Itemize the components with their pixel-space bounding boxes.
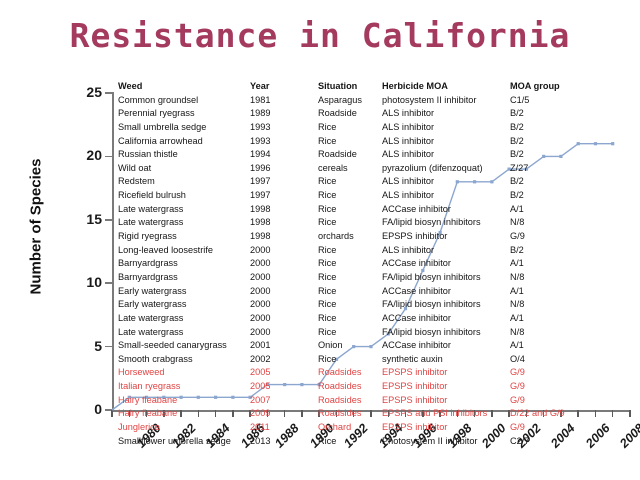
table-row: Smallflower umbrella sedge2013RicePhotos… <box>118 435 634 449</box>
cell-situation: Roadsides <box>318 394 382 408</box>
cell-weed: California arrowhead <box>118 135 250 149</box>
cell-situation: Orchard <box>318 421 382 435</box>
table-row: Common groundsel1981Asparagusphotosystem… <box>118 94 634 108</box>
cell-situation: orchards <box>318 230 382 244</box>
table-row: Small-seeded canarygrass2001OnionACCase … <box>118 339 634 353</box>
cell-year: 1998 <box>250 203 318 217</box>
cell-moa: EPSPS and PSI inhibitors <box>382 407 510 421</box>
cell-weed: Hairy fleabane <box>118 407 250 421</box>
cell-group: C2/7 <box>510 435 620 449</box>
cell-weed: Common groundsel <box>118 94 250 108</box>
table-row: Horseweed2005RoadsidesEPSPS inhibitorG/9 <box>118 366 634 380</box>
cell-group: B/2 <box>510 175 620 189</box>
cell-weed: Long-leaved loosestrife <box>118 244 250 258</box>
cell-group: Z/27 <box>510 162 620 176</box>
cell-group: N/8 <box>510 298 620 312</box>
y-axis-tick <box>105 346 113 348</box>
cell-year: 2000 <box>250 285 318 299</box>
y-axis-tick <box>105 219 113 221</box>
cell-group: B/2 <box>510 135 620 149</box>
cell-weed: Hairy fleabane <box>118 394 250 408</box>
cell-situation: Rice <box>318 244 382 258</box>
cell-situation: Rice <box>318 189 382 203</box>
cell-group: B/2 <box>510 189 620 203</box>
table-row: Rigid ryegrass1998orchardsEPSPS inhibito… <box>118 230 634 244</box>
cell-group: B/2 <box>510 107 620 121</box>
cell-group: G/9 <box>510 230 620 244</box>
cell-situation: Rice <box>318 435 382 449</box>
cell-moa: pyrazolium (difenzoquat) <box>382 162 510 176</box>
cell-year: 2009 <box>250 407 318 421</box>
cell-group: A/1 <box>510 257 620 271</box>
table-row: Early watergrass2000RiceACCase inhibitor… <box>118 285 634 299</box>
cell-moa: ALS inhibitor <box>382 148 510 162</box>
y-axis-tick-label: 15 <box>74 214 102 224</box>
cell-year: 1997 <box>250 175 318 189</box>
table-row: Small umbrella sedge1993RiceALS inhibito… <box>118 121 634 135</box>
table-row: Perennial ryegrass1989RoadsideALS inhibi… <box>118 107 634 121</box>
cell-weed: Small-seeded canarygrass <box>118 339 250 353</box>
cell-group: A/1 <box>510 312 620 326</box>
slide: Resistance in California Number of Speci… <box>0 0 640 480</box>
cell-situation: Rice <box>318 203 382 217</box>
cell-weed: Late watergrass <box>118 326 250 340</box>
cell-year: 2011 <box>250 421 318 435</box>
cell-group: O/4 <box>510 353 620 367</box>
cell-situation: Rice <box>318 121 382 135</box>
cell-situation: Asparagus <box>318 94 382 108</box>
cell-year: 1994 <box>250 148 318 162</box>
cell-weed: Russian thistle <box>118 148 250 162</box>
cell-situation: Rice <box>318 257 382 271</box>
cell-moa: FA/lipid biosyn inhibitors <box>382 216 510 230</box>
column-header-moa: Herbicide MOA <box>382 80 510 94</box>
cell-situation: Roadside <box>318 107 382 121</box>
cell-weed: Rigid ryegrass <box>118 230 250 244</box>
cell-situation: Rice <box>318 285 382 299</box>
column-header-year: Year <box>250 80 318 94</box>
cell-group: G/9 <box>510 380 620 394</box>
cell-weed: Perennial ryegrass <box>118 107 250 121</box>
table-row: California arrowhead1993RiceALS inhibito… <box>118 135 634 149</box>
cell-weed: Redstem <box>118 175 250 189</box>
y-axis-tick-label: 25 <box>74 87 102 97</box>
table-row: Junglerice2011OrchardEPSPS inhibitorG/9 <box>118 421 634 435</box>
cell-year: 1997 <box>250 189 318 203</box>
table-row: Hairy fleabane2007RoadsidesEPSPS inhibit… <box>118 394 634 408</box>
cell-year: 1996 <box>250 162 318 176</box>
cell-weed: Barnyardgrass <box>118 257 250 271</box>
table-row: Late watergrass2000RiceACCase inhibitorA… <box>118 312 634 326</box>
cell-situation: Rice <box>318 135 382 149</box>
table-row: Smooth crabgrass2002Ricesynthetic auxinO… <box>118 353 634 367</box>
table-row: Redstem1997RiceALS inhibitorB/2 <box>118 175 634 189</box>
cell-weed: Late watergrass <box>118 203 250 217</box>
column-header-situation: Situation <box>318 80 382 94</box>
y-axis-tick-label: 10 <box>74 277 102 287</box>
cell-moa: ACCase inhibitor <box>382 312 510 326</box>
cell-situation: Rice <box>318 353 382 367</box>
cell-moa: ACCase inhibitor <box>382 203 510 217</box>
cell-year: 2001 <box>250 339 318 353</box>
cell-year: 1981 <box>250 94 318 108</box>
cell-year: 2000 <box>250 257 318 271</box>
cell-group: B/2 <box>510 244 620 258</box>
cell-group: G/9 <box>510 421 620 435</box>
cell-moa: ALS inhibitor <box>382 175 510 189</box>
table-header-row: Weed Year Situation Herbicide MOA MOA gr… <box>118 80 634 94</box>
cell-weed: Ricefield bulrush <box>118 189 250 203</box>
cell-situation: Rice <box>318 175 382 189</box>
cell-year: 1993 <box>250 121 318 135</box>
table-row: Early watergrass2000RiceFA/lipid biosyn … <box>118 298 634 312</box>
cell-moa: FA/lipid biosyn inhibitors <box>382 271 510 285</box>
cell-situation: Rice <box>318 312 382 326</box>
table-row: Hairy fleabane2009RoadsidesEPSPS and PSI… <box>118 407 634 421</box>
cell-moa: ACCase inhibitor <box>382 285 510 299</box>
cell-weed: Early watergrass <box>118 298 250 312</box>
cell-group: N/8 <box>510 271 620 285</box>
y-axis-tick-label: 20 <box>74 150 102 160</box>
cell-moa: ALS inhibitor <box>382 107 510 121</box>
cell-situation: Roadside <box>318 148 382 162</box>
cell-group: A/1 <box>510 339 620 353</box>
table-row: Russian thistle1994RoadsideALS inhibitor… <box>118 148 634 162</box>
cell-moa: Photosystem II inhibitor <box>382 435 510 449</box>
cell-year: 2000 <box>250 312 318 326</box>
table-row: Barnyardgrass2000RiceACCase inhibitorA/1 <box>118 257 634 271</box>
cell-year: 2007 <box>250 394 318 408</box>
cell-moa: FA/lipid biosyn inhibitors <box>382 298 510 312</box>
table-row: Late watergrass1998RiceFA/lipid biosyn i… <box>118 216 634 230</box>
cell-moa: ALS inhibitor <box>382 244 510 258</box>
cell-group: N/8 <box>510 326 620 340</box>
cell-moa: ACCase inhibitor <box>382 339 510 353</box>
y-axis-tick <box>105 282 113 284</box>
cell-year: 1993 <box>250 135 318 149</box>
cell-weed: Small umbrella sedge <box>118 121 250 135</box>
cell-moa: ALS inhibitor <box>382 189 510 203</box>
cell-year: 1998 <box>250 216 318 230</box>
cell-situation: Rice <box>318 216 382 230</box>
cell-situation: Roadsides <box>318 407 382 421</box>
cell-group: N/8 <box>510 216 620 230</box>
cell-moa: ALS inhibitor <box>382 121 510 135</box>
cell-weed: Early watergrass <box>118 285 250 299</box>
cell-weed: Late watergrass <box>118 216 250 230</box>
y-axis-tick <box>105 92 113 94</box>
cell-year: 2005 <box>250 366 318 380</box>
cell-weed: Smallflower umbrella sedge <box>118 435 250 449</box>
cell-year: 1989 <box>250 107 318 121</box>
cell-moa: photosystem II inhibitor <box>382 94 510 108</box>
cell-weed: Junglerice <box>118 421 250 435</box>
cell-year: 2000 <box>250 271 318 285</box>
cell-moa: EPSPS inhibitor <box>382 230 510 244</box>
cell-situation: Onion <box>318 339 382 353</box>
cell-moa: EPSPS inhibitor <box>382 421 510 435</box>
cell-weed: Smooth crabgrass <box>118 353 250 367</box>
cell-situation: Roadsides <box>318 366 382 380</box>
cell-moa: EPSPS inhibitor <box>382 380 510 394</box>
y-axis-tick-label: 5 <box>74 341 102 351</box>
y-axis-title: Number of Species <box>28 147 45 307</box>
y-axis-tick-label: 0 <box>74 404 102 414</box>
cell-situation: Rice <box>318 298 382 312</box>
table-row: Long-leaved loosestrife2000RiceALS inhib… <box>118 244 634 258</box>
cell-year: 1998 <box>250 230 318 244</box>
cell-year: 2005 <box>250 380 318 394</box>
table-row: Barnyardgrass2000RiceFA/lipid biosyn inh… <box>118 271 634 285</box>
column-header-group: MOA group <box>510 80 620 94</box>
cell-moa: synthetic auxin <box>382 353 510 367</box>
cell-group: A/1 <box>510 285 620 299</box>
x-axis-tick <box>111 410 113 417</box>
table-row: Late watergrass2000RiceFA/lipid biosyn i… <box>118 326 634 340</box>
cell-moa: FA/lipid biosyn inhibitors <box>382 326 510 340</box>
cell-weed: Horseweed <box>118 366 250 380</box>
table-row: Late watergrass1998RiceACCase inhibitorA… <box>118 203 634 217</box>
cell-weed: Barnyardgrass <box>118 271 250 285</box>
cell-situation: Roadsides <box>318 380 382 394</box>
cell-moa: ALS inhibitor <box>382 135 510 149</box>
cell-year: 2000 <box>250 326 318 340</box>
cell-year: 2013 <box>250 435 318 449</box>
resistance-table: Weed Year Situation Herbicide MOA MOA gr… <box>118 80 634 448</box>
cell-group: G/9 <box>510 394 620 408</box>
cell-year: 2002 <box>250 353 318 367</box>
y-axis-line <box>112 92 114 411</box>
cell-moa: EPSPS inhibitor <box>382 366 510 380</box>
table-row: Wild oat1996cerealspyrazolium (difenzoqu… <box>118 162 634 176</box>
cell-weed: Late watergrass <box>118 312 250 326</box>
cell-situation: Rice <box>318 326 382 340</box>
cell-group: B/2 <box>510 121 620 135</box>
cell-group: A/1 <box>510 203 620 217</box>
cell-weed: Wild oat <box>118 162 250 176</box>
cell-moa: ACCase inhibitor <box>382 257 510 271</box>
cell-weed: Italian ryegrass <box>118 380 250 394</box>
cell-situation: cereals <box>318 162 382 176</box>
cell-year: 2000 <box>250 244 318 258</box>
cell-situation: Rice <box>318 271 382 285</box>
cell-year: 2000 <box>250 298 318 312</box>
cell-moa: EPSPS inhibitor <box>382 394 510 408</box>
y-axis-tick <box>105 156 113 158</box>
column-header-weed: Weed <box>118 80 250 94</box>
table-row: Italian ryegrass2005RoadsidesEPSPS inhib… <box>118 380 634 394</box>
cell-group: C1/5 <box>510 94 620 108</box>
table-row: Ricefield bulrush1997RiceALS inhibitorB/… <box>118 189 634 203</box>
cell-group: G/9 <box>510 366 620 380</box>
cell-group: D/22 and G/9 <box>510 407 620 421</box>
cell-group: B/2 <box>510 148 620 162</box>
